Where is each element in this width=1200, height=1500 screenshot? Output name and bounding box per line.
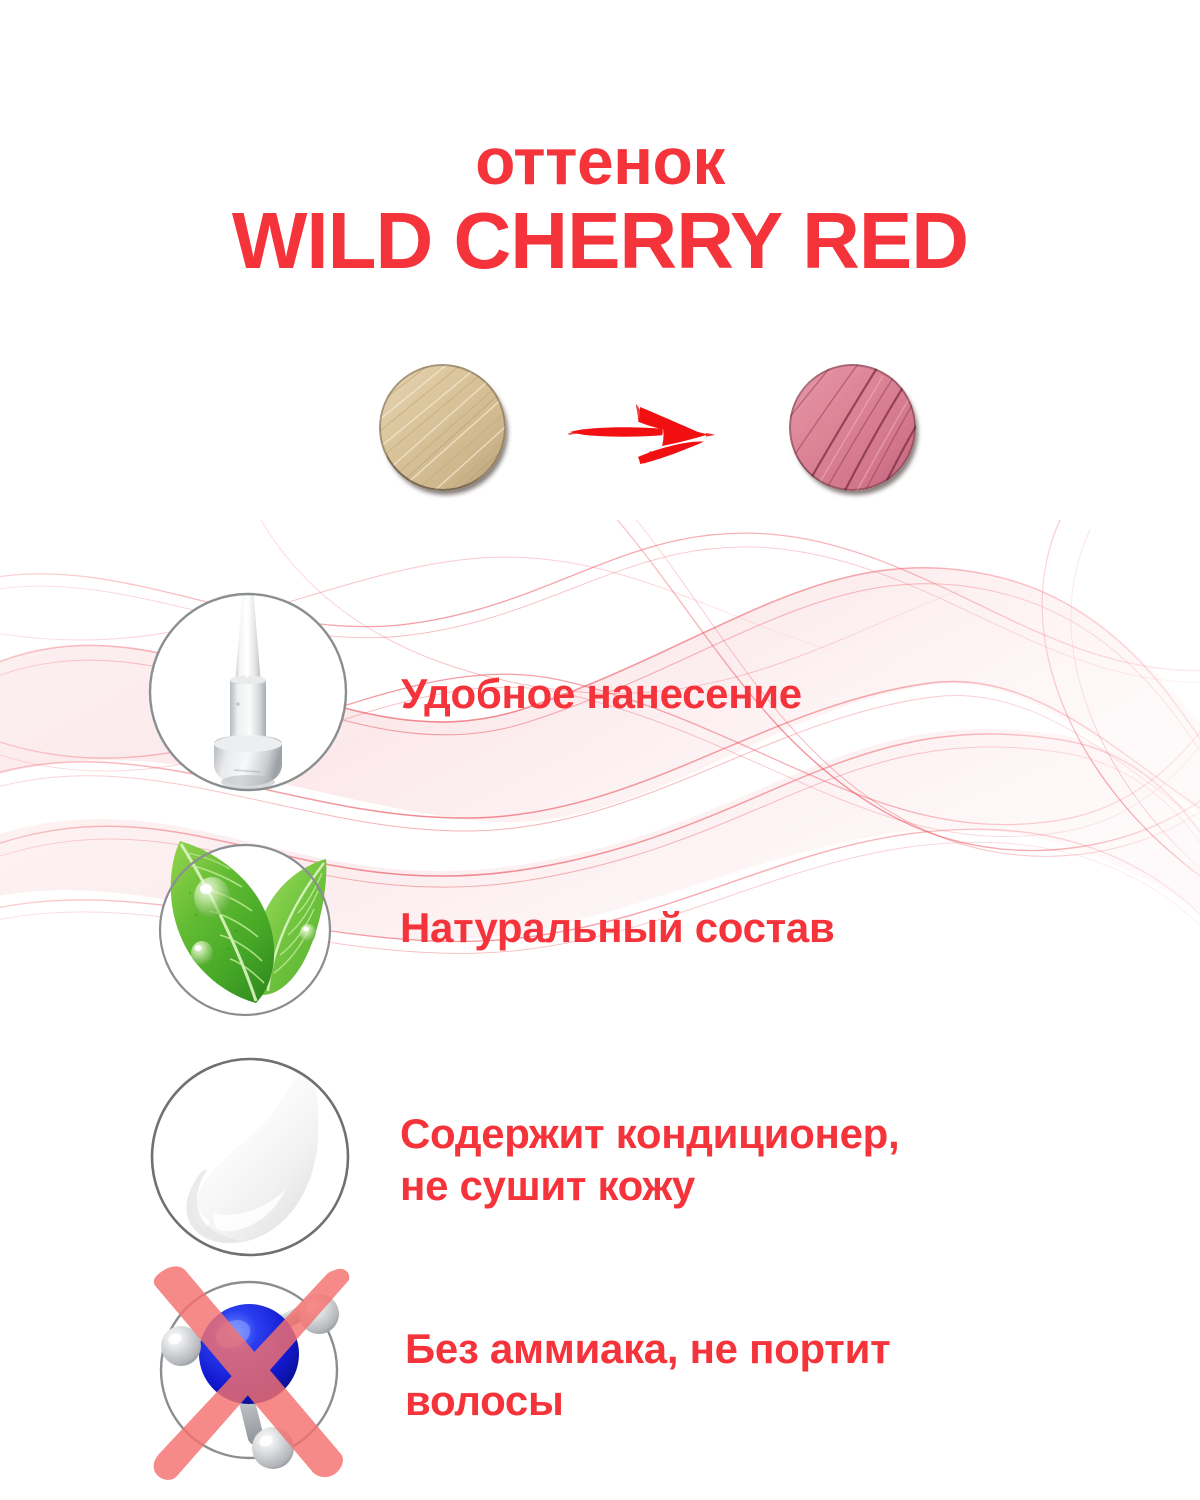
- feature-label: Без аммиака, не портит волосы: [405, 1323, 1105, 1425]
- title-line-shade-word: оттенок: [0, 128, 1200, 195]
- applicator-nozzle-icon: [148, 592, 353, 797]
- no-ammonia-molecule-icon: [145, 1262, 360, 1487]
- right-arrow-brush-icon: [566, 396, 716, 466]
- blonde-hair-swatch: [379, 364, 506, 491]
- cherry-red-hair-swatch: [789, 364, 916, 491]
- cream-dollop-icon: [150, 1057, 355, 1262]
- feature-row-contains-conditioner: Содержит кондиционер, не сушит кожу: [0, 1057, 1200, 1262]
- feature-label: Удобное нанесение: [401, 668, 1101, 719]
- feature-label: Содержит кондиционер, не сушит кожу: [400, 1108, 1100, 1210]
- feature-row-convenient-application: Удобное нанесение: [0, 594, 1200, 794]
- page-title: оттенок WILD CHERRY RED: [0, 128, 1200, 284]
- title-line-shade-name: WILD CHERRY RED: [0, 199, 1200, 284]
- feature-label: Натуральный состав: [400, 902, 1100, 953]
- shade-before-after-row: [0, 358, 1200, 508]
- green-leaves-icon: [150, 835, 345, 1020]
- feature-row-no-ammonia: Без аммиака, не портит волосы: [0, 1262, 1200, 1487]
- feature-row-natural-composition: Натуральный состав: [0, 835, 1200, 1020]
